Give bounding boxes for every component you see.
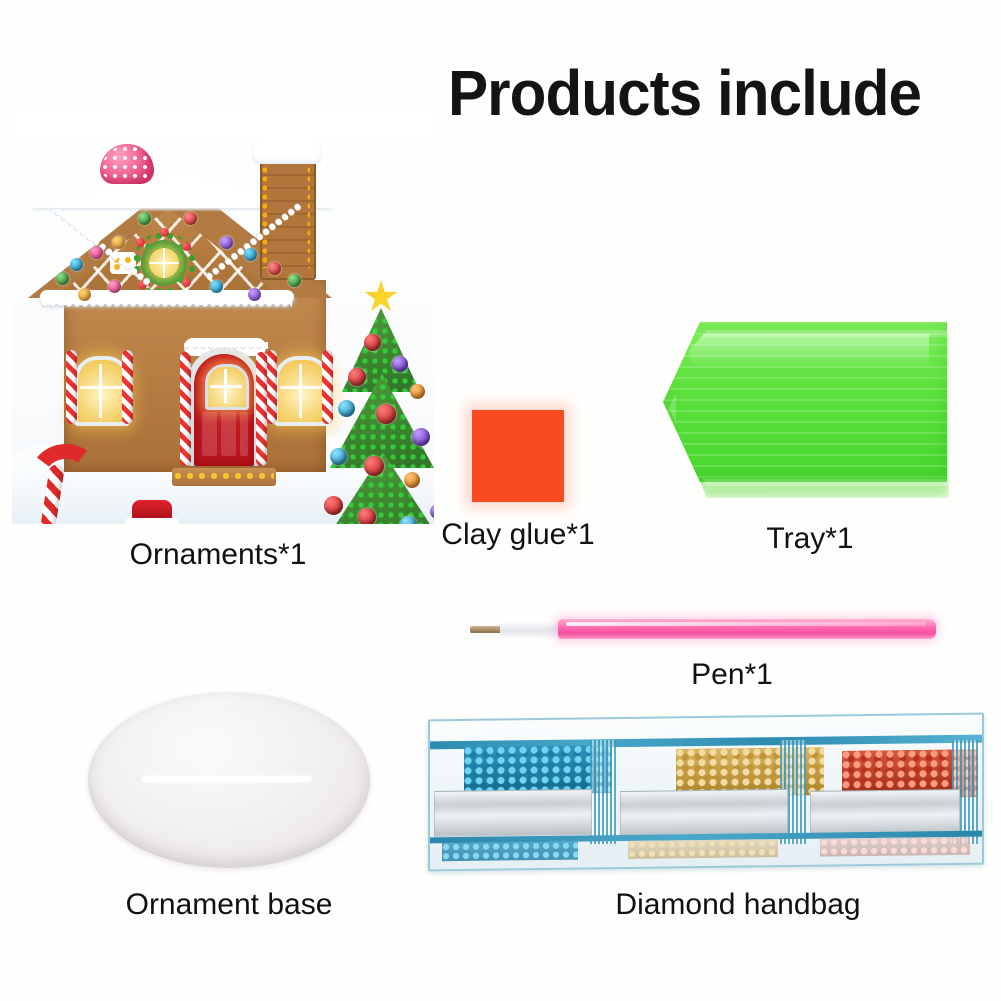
door-steps-candy bbox=[174, 472, 274, 482]
snowman-hat-brim bbox=[125, 518, 179, 524]
clay-glue-product-image bbox=[472, 410, 564, 502]
door-candy-post bbox=[180, 352, 191, 466]
diamond-handbag-product-image bbox=[428, 716, 984, 868]
door-pearl-trim bbox=[184, 342, 268, 350]
tray-product-image bbox=[663, 318, 953, 502]
candy-post bbox=[266, 350, 277, 424]
candy-post bbox=[322, 350, 333, 424]
ornament-base-slot bbox=[142, 776, 312, 782]
candy-post bbox=[66, 350, 77, 424]
snowman-hat bbox=[132, 500, 172, 520]
pen-label: Pen*1 bbox=[612, 658, 852, 692]
tree-ornament bbox=[364, 334, 381, 351]
infographic-canvas: Products include bbox=[0, 0, 1001, 1001]
tree-ornament bbox=[410, 384, 425, 399]
tree-ornament bbox=[364, 456, 384, 476]
pen-metal-tip bbox=[470, 626, 504, 633]
ornament-base-label: Ornament base bbox=[109, 888, 349, 922]
door-candy-post bbox=[256, 352, 267, 466]
diamond-handbag-label: Diamond handbag bbox=[588, 888, 888, 922]
pen-ferrule bbox=[500, 621, 562, 638]
door-window bbox=[205, 364, 249, 410]
ornaments-label: Ornaments*1 bbox=[38, 538, 398, 572]
foil-label-strip bbox=[434, 789, 592, 837]
tree-ornament bbox=[348, 368, 366, 386]
chimney-snow-cap bbox=[252, 138, 322, 164]
zip-bag-seam bbox=[590, 740, 616, 844]
pen-highlight bbox=[566, 622, 926, 626]
window-mullion-v bbox=[163, 248, 165, 278]
page-title: Products include bbox=[448, 56, 960, 130]
pearl-trim bbox=[42, 300, 292, 308]
tray-label: Tray*1 bbox=[690, 522, 930, 556]
tree-ornament bbox=[358, 508, 376, 524]
wreath-berry bbox=[160, 228, 169, 237]
pen-product-image bbox=[470, 612, 936, 646]
tree-ornament bbox=[330, 448, 347, 465]
tree-ornament bbox=[324, 496, 343, 515]
clay-glue-label: Clay glue*1 bbox=[398, 518, 638, 552]
foil-label-strip bbox=[810, 789, 960, 837]
tree-ornament bbox=[404, 472, 420, 488]
wreath-berry bbox=[182, 242, 191, 251]
ornament-base-product-image bbox=[88, 692, 370, 868]
ornaments-product-image bbox=[12, 112, 434, 524]
wreath-berry bbox=[136, 238, 145, 247]
candy-post bbox=[122, 350, 133, 424]
tree-ornament bbox=[376, 404, 396, 424]
foil-label-strip bbox=[620, 789, 788, 837]
tree-ornament bbox=[412, 428, 430, 446]
tray-highlight bbox=[689, 334, 929, 368]
tree-ornament bbox=[338, 400, 355, 417]
wreath-berry bbox=[182, 278, 191, 287]
tree-ornament bbox=[392, 356, 408, 372]
